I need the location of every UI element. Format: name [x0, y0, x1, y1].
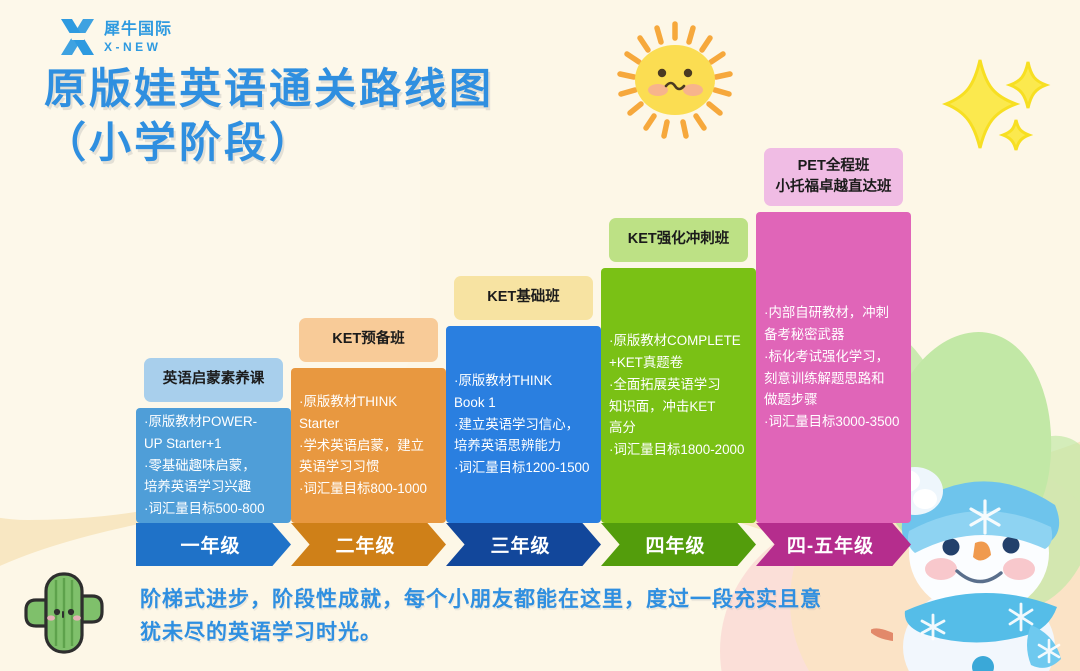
bullet-line: Starter — [299, 413, 438, 435]
course-badge-label: PET全程班 — [798, 156, 870, 177]
bullet-line: ·词汇量目标3000-3500 — [764, 411, 903, 433]
grade-label: 二年级 — [335, 531, 401, 558]
bullet-line: ·原版教材THINK — [299, 391, 438, 413]
grade-chevron-2: 二年级 — [291, 523, 446, 566]
bullet-line: 刻意训练解题思路和 — [764, 368, 903, 390]
course-badge-label-2: 小托福卓越直达班 — [776, 177, 892, 198]
bullet-line: Book 1 — [454, 392, 593, 414]
grade-label: 四-五年级 — [787, 531, 880, 558]
grade-label: 三年级 — [490, 531, 556, 558]
roadmap-column-grade3[interactable]: KET基础班 ·原版教材THINK Book 1 ·建立英语学习信心， 培养英语… — [446, 276, 601, 566]
bullet-line: ·原版教材POWER- — [144, 411, 283, 433]
brand-name-en: X-NEW — [104, 41, 172, 53]
bullet-line: ·标化考试强化学习， — [764, 346, 903, 368]
sparkles-icon — [938, 38, 1058, 158]
course-badge-label: KET强化冲刺班 — [628, 229, 730, 250]
bullet-line: ·内部自研教材，冲刺 — [764, 302, 903, 324]
bullet-line: +KET真题卷 — [609, 352, 748, 374]
bullet-line: UP Starter+1 — [144, 433, 283, 455]
bullet-line: 培养英语思辨能力 — [454, 435, 593, 457]
grade-chevron-1: 一年级 — [136, 523, 291, 566]
page-title: 原版娃英语通关路线图 （小学阶段） — [44, 62, 494, 170]
bullet-line: ·词汇量目标1200-1500 — [454, 457, 593, 479]
page-title-line2: （小学阶段） — [44, 116, 494, 170]
course-details-3: ·原版教材THINK Book 1 ·建立英语学习信心， 培养英语思辨能力 ·词… — [446, 326, 601, 523]
course-details-5: ·内部自研教材，冲刺 备考秘密武器 ·标化考试强化学习， 刻意训练解题思路和 做… — [756, 212, 911, 523]
page-title-line1: 原版娃英语通关路线图 — [44, 62, 494, 116]
course-badge-2: KET预备班 — [299, 318, 438, 362]
bullet-line: ·建立英语学习信心， — [454, 414, 593, 436]
roadmap-column-grade4[interactable]: KET强化冲刺班 ·原版教材COMPLETE +KET真题卷 ·全面拓展英语学习… — [601, 218, 756, 566]
footer-tagline: 阶梯式进步，阶段性成就，每个小朋友都能在这里，度过一段充实且意 犹未尽的英语学习… — [140, 584, 970, 649]
bullet-line: ·原版教材THINK — [454, 370, 593, 392]
bullet-line: ·词汇量目标500-800 — [144, 498, 283, 520]
roadmap-column-grade1[interactable]: 英语启蒙素养课 ·原版教材POWER- UP Starter+1 ·零基础趣味启… — [136, 358, 291, 566]
course-details-4: ·原版教材COMPLETE +KET真题卷 ·全面拓展英语学习 知识面，冲击KE… — [601, 268, 756, 523]
x-mark-icon — [58, 16, 98, 58]
course-badge-label: 英语启蒙素养课 — [163, 369, 265, 390]
bullet-line: ·零基础趣味启蒙， — [144, 455, 283, 477]
grade-chevron-3: 三年级 — [446, 523, 601, 566]
course-details-1: ·原版教材POWER- UP Starter+1 ·零基础趣味启蒙， 培养英语学… — [136, 408, 291, 523]
bullet-line: ·全面拓展英语学习 — [609, 374, 748, 396]
bullet-line: ·原版教材COMPLETE — [609, 330, 748, 352]
bullet-line: ·词汇量目标1800-2000 — [609, 439, 748, 461]
grade-chevron-4: 四年级 — [601, 523, 756, 566]
bullet-line: 英语学习习惯 — [299, 456, 438, 478]
roadmap-chart: 英语启蒙素养课 ·原版教材POWER- UP Starter+1 ·零基础趣味启… — [136, 104, 936, 566]
grade-chevron-5: 四-五年级 — [756, 523, 911, 566]
bullet-line: ·学术英语启蒙，建立 — [299, 435, 438, 457]
roadmap-column-grade45[interactable]: PET全程班 小托福卓越直达班 ·内部自研教材，冲刺 备考秘密武器 ·标化考试强… — [756, 148, 911, 566]
course-badge-label: KET基础班 — [487, 287, 560, 308]
bullet-line: 备考秘密武器 — [764, 324, 903, 346]
course-badge-3: KET基础班 — [454, 276, 593, 320]
bullet-line: 做题步骤 — [764, 389, 903, 411]
course-badge-5: PET全程班 小托福卓越直达班 — [764, 148, 903, 206]
bullet-line: 培养英语学习兴趣 — [144, 476, 283, 498]
footer-line1: 阶梯式进步，阶段性成就，每个小朋友都能在这里，度过一段充实且意 — [140, 584, 970, 617]
footer-line2: 犹未尽的英语学习时光。 — [140, 617, 970, 650]
brand-logo: 犀牛国际 X-NEW — [58, 16, 172, 58]
course-badge-4: KET强化冲刺班 — [609, 218, 748, 262]
roadmap-column-grade2[interactable]: KET预备班 ·原版教材THINK Starter ·学术英语启蒙，建立 英语学… — [291, 318, 446, 566]
brand-name-cn: 犀牛国际 — [104, 22, 172, 38]
course-badge-1: 英语启蒙素养课 — [144, 358, 283, 402]
course-details-2: ·原版教材THINK Starter ·学术英语启蒙，建立 英语学习习惯 ·词汇… — [291, 368, 446, 523]
bullet-line: 高分 — [609, 417, 748, 439]
cactus-icon — [18, 556, 110, 664]
grade-label: 一年级 — [180, 531, 246, 558]
bullet-line: 知识面，冲击KET — [609, 396, 748, 418]
bullet-line: ·词汇量目标800-1000 — [299, 478, 438, 500]
course-badge-label: KET预备班 — [332, 329, 405, 350]
grade-label: 四年级 — [645, 531, 711, 558]
